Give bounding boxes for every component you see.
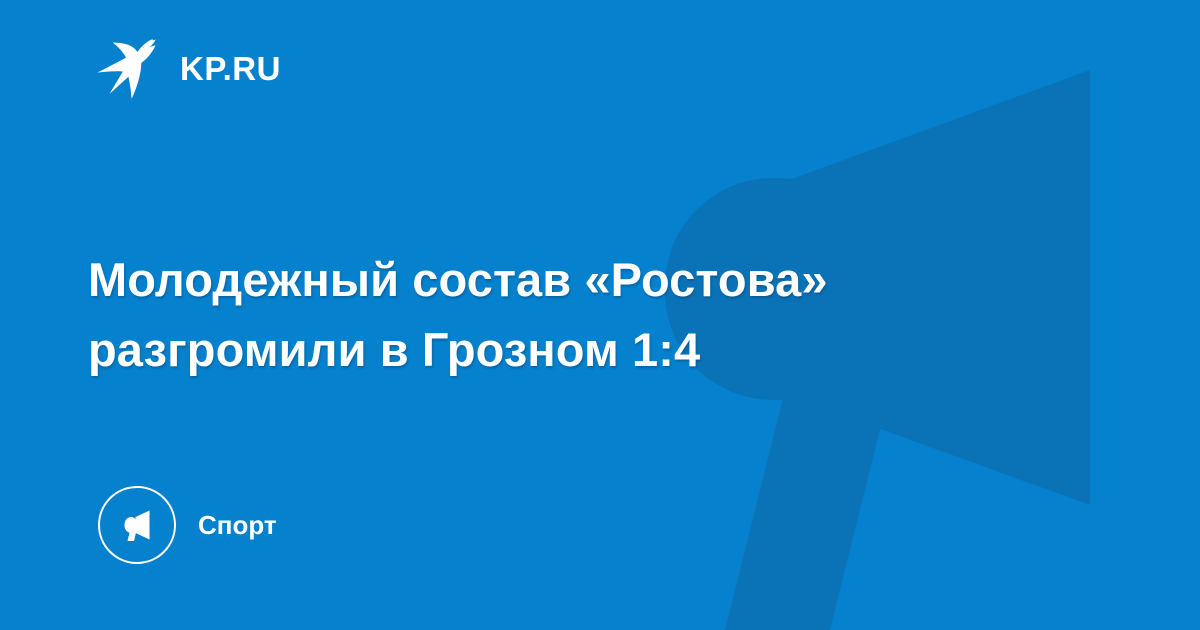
category-tag[interactable]: Спорт xyxy=(98,486,277,564)
headline: Молодежный состав «Ростова» разгромили в… xyxy=(88,245,1048,385)
category-badge xyxy=(98,486,176,564)
category-label: Спорт xyxy=(198,512,277,538)
brand-header: KP.RU xyxy=(90,34,281,102)
headline-line-2: разгромили в Грозном 1:4 xyxy=(88,315,1048,385)
swallow-bird-icon xyxy=(90,35,162,101)
headline-line-1: Молодежный состав «Ростова» xyxy=(88,245,1048,315)
megaphone-icon xyxy=(117,505,157,545)
brand-name: KP.RU xyxy=(180,52,281,85)
social-share-card: KP.RU Молодежный состав «Ростова» разгро… xyxy=(0,0,1200,630)
